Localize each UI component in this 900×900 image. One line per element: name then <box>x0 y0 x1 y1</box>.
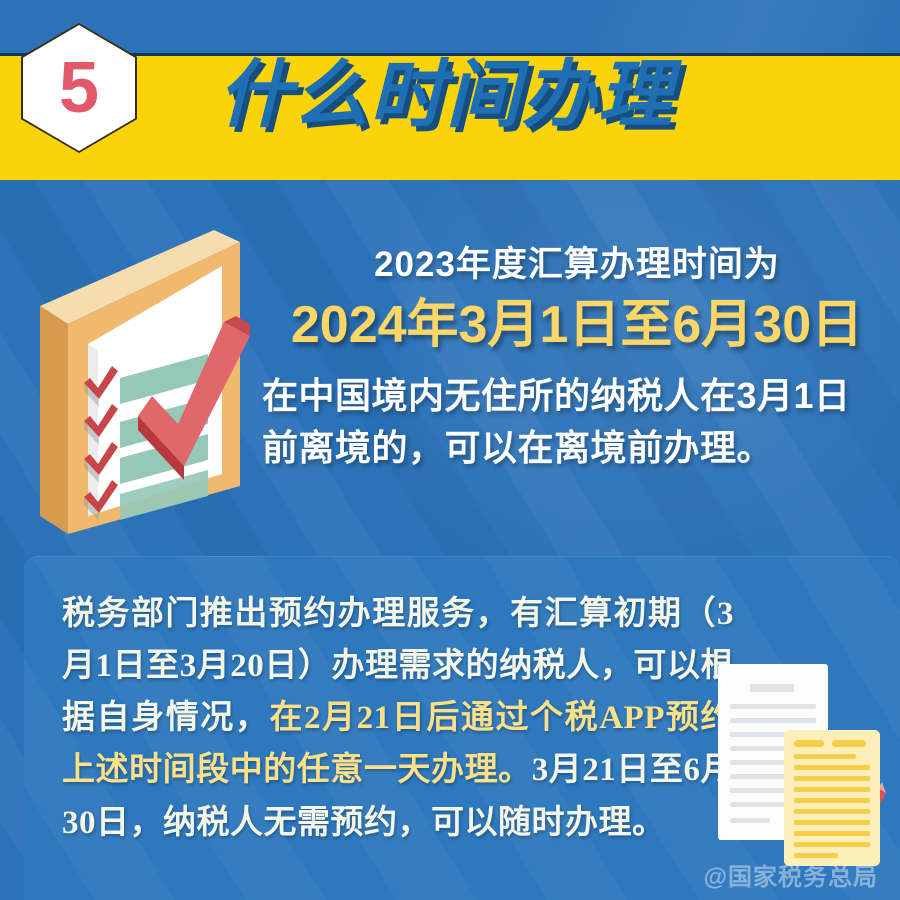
main-copy-block: 2023年度汇算办理时间为 2024年3月1日至6月30日 在中国境内无住所的纳… <box>262 243 892 474</box>
body-line-1: 在中国境内无住所的纳税人在3月1日 <box>262 370 892 422</box>
documents-illustration <box>712 660 892 875</box>
note-paragraph: 税务部门推出预约办理服务，有汇算初期（3月1日至3月20日）办理需求的纳税人，可… <box>62 588 734 849</box>
section-title: 什么时间办理 <box>218 58 674 132</box>
header-blue-strip <box>0 0 900 53</box>
checklist-board-illustration <box>28 228 268 548</box>
lead-line: 2023年度汇算办理时间为 <box>262 243 892 287</box>
watermark-label: @国家税务总局 <box>704 866 878 890</box>
infographic-poster: 5 什么时间办理 <box>0 0 900 900</box>
body-line-2: 前离境的，可以在离境前办理。 <box>262 422 892 474</box>
highlight-date: 2024年3月1日至6月30日 <box>262 295 892 356</box>
section-number-label: 5 <box>23 25 135 151</box>
